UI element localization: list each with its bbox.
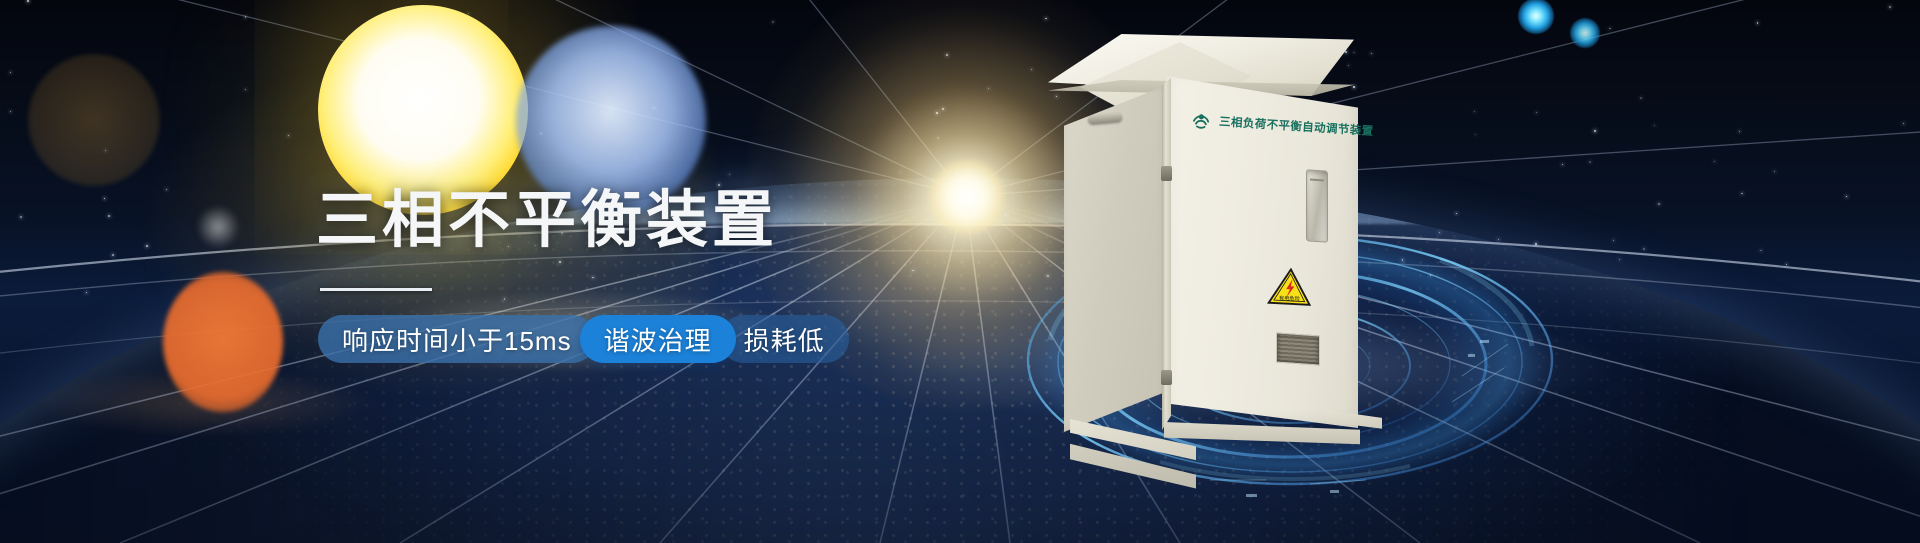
warning-label: 有电危险 <box>1267 267 1313 307</box>
feature-pill-response-time[interactable]: 响应时间小于15ms <box>318 315 596 363</box>
cabinet-ventilation-grille <box>1276 332 1320 365</box>
cabinet-door-hinge-top <box>1161 166 1172 181</box>
state-grid-circular-logo <box>1189 108 1212 131</box>
cabinet-door-handle <box>1306 169 1328 243</box>
cabinet-door-hinge-bottom <box>1161 370 1172 385</box>
glow-dot-cyan-2 <box>1570 18 1600 48</box>
headline-divider <box>320 288 432 291</box>
hero-banner: 三相负荷不平衡自动调节装置 有电危险 三相不平衡装置 响应时间小于15ms 谐波… <box>0 0 1920 543</box>
feature-pill-low-loss[interactable]: 损耗低 <box>720 315 849 363</box>
feature-pill-group: 响应时间小于15ms 谐波治理 损耗低 <box>316 315 1116 363</box>
banner-headline: 三相不平衡装置 <box>316 190 1116 252</box>
banner-copy: 三相不平衡装置 响应时间小于15ms 谐波治理 损耗低 <box>316 190 1116 363</box>
feature-pill-harmonic-treatment[interactable]: 谐波治理 <box>580 315 736 363</box>
